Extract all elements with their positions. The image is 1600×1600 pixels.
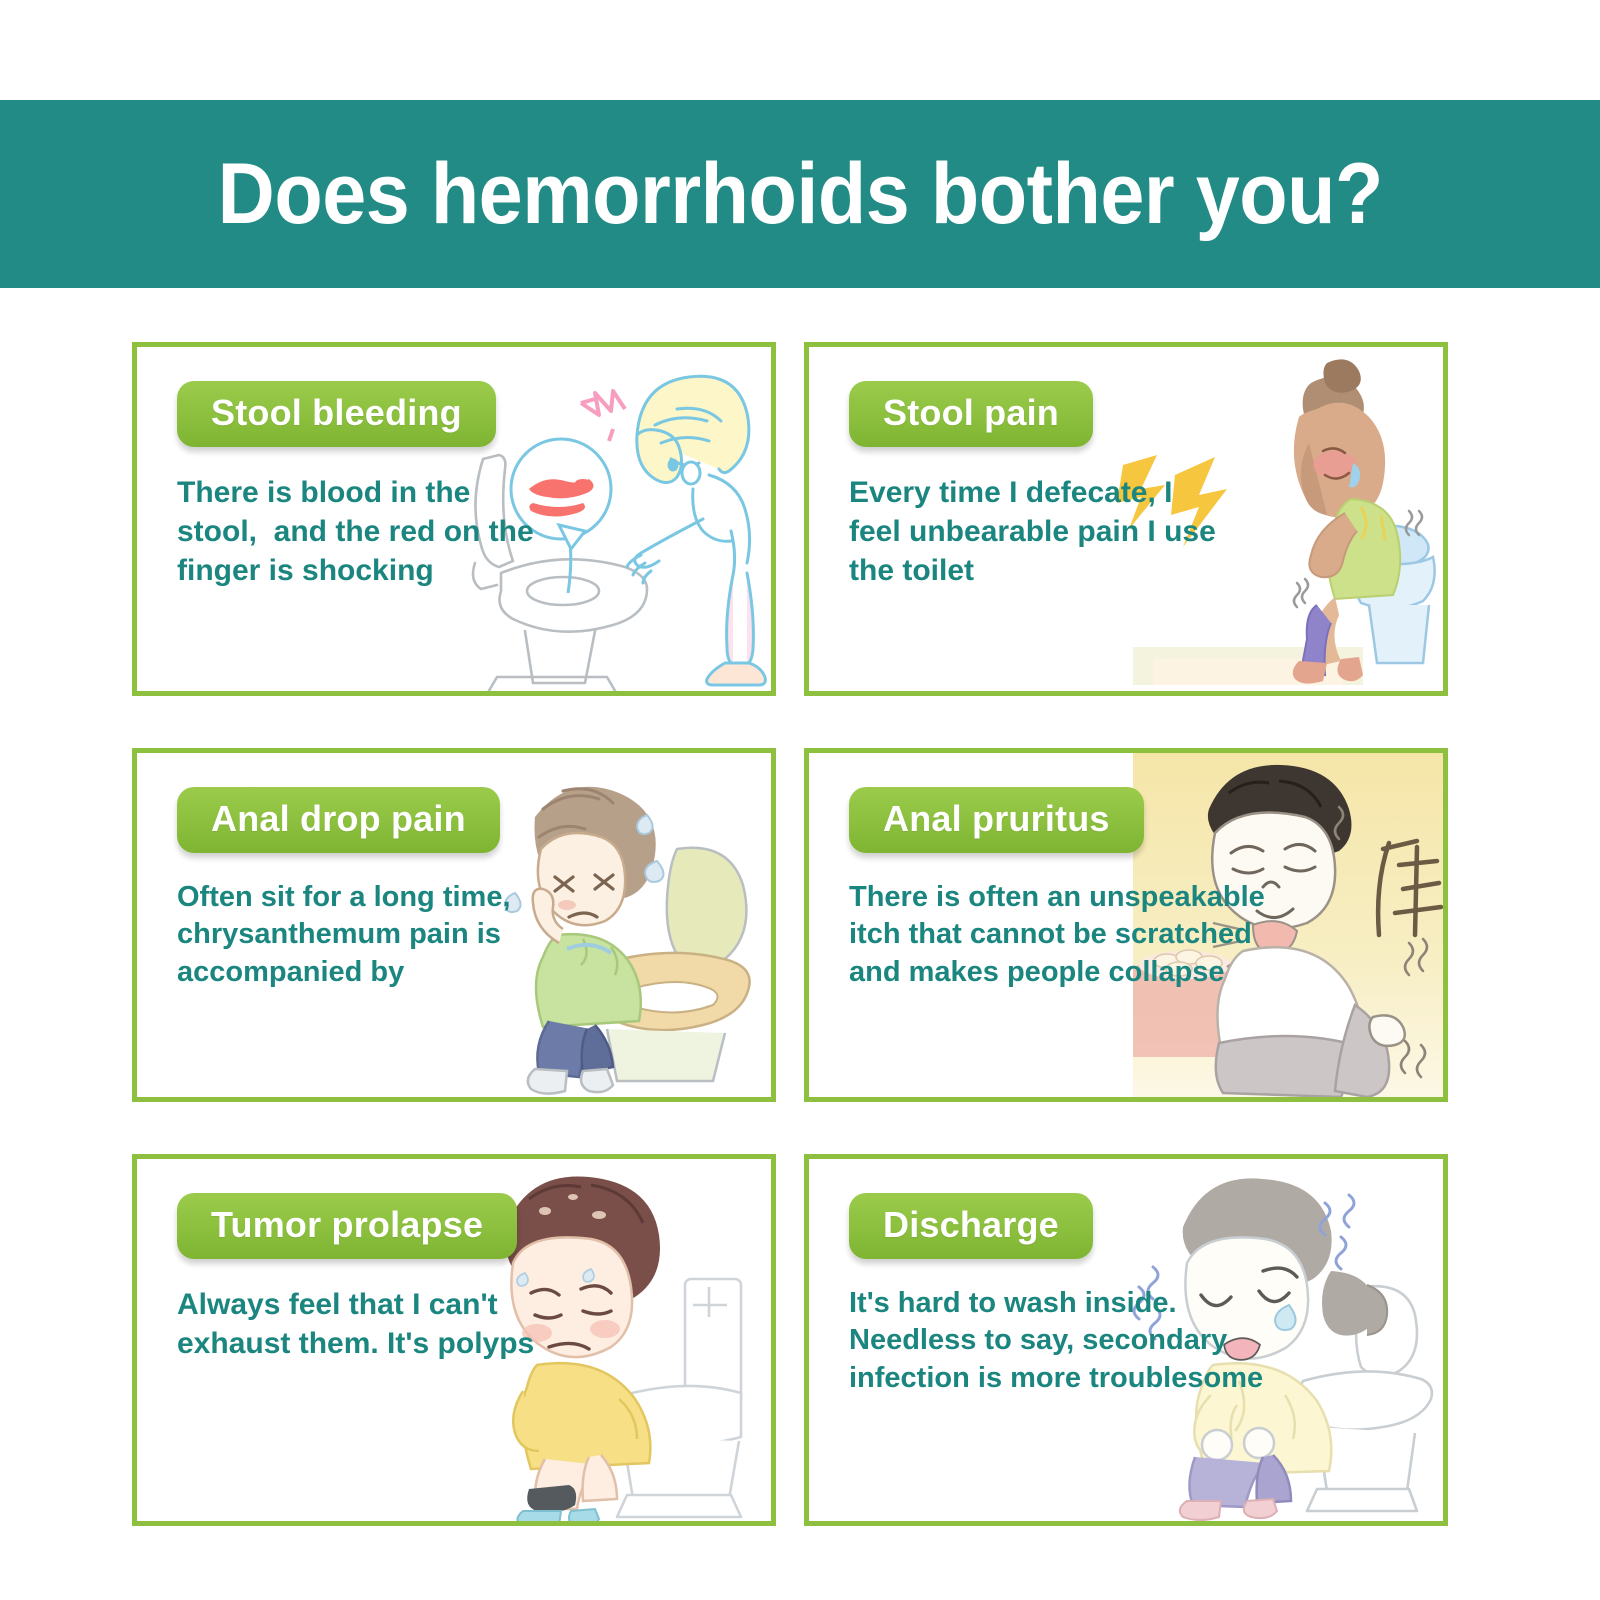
page-title: Does hemorrhoids bother you? [217,151,1382,237]
infographic-page: Does hemorrhoids bother you? [0,0,1600,1600]
symptom-card-anal-pruritus[interactable]: Anal pruritus There is often an unspeaka… [804,748,1448,1102]
card-text-block: Stool bleeding There is blood in the sto… [177,381,557,590]
badge-stool-pain[interactable]: Stool pain [849,381,1093,447]
badge-wrap: Stool bleeding [177,381,557,447]
symptom-card-anal-drop-pain[interactable]: Anal drop pain Often sit for a long time… [132,748,776,1102]
card-text-block: Anal pruritus There is often an unspeaka… [849,787,1289,992]
badge-discharge[interactable]: Discharge [849,1193,1093,1259]
body-text-tumor-prolapse: Always feel that I can't exhaust them. I… [177,1285,557,1363]
header-banner: Does hemorrhoids bother you? [0,100,1600,288]
badge-wrap: Tumor prolapse [177,1193,557,1259]
badge-tumor-prolapse[interactable]: Tumor prolapse [177,1193,517,1259]
badge-wrap: Stool pain [849,381,1229,447]
body-text-stool-pain: Every time I defecate, I feel unbearable… [849,473,1229,590]
body-text-anal-pruritus: There is often an unspeakable itch that … [849,879,1289,992]
body-text-discharge: It's hard to wash inside. Needless to sa… [849,1285,1289,1398]
symptom-card-tumor-prolapse[interactable]: Tumor prolapse Always feel that I can't … [132,1154,776,1526]
card-text-block: Discharge It's hard to wash inside. Need… [849,1193,1289,1398]
card-text-block: Anal drop pain Often sit for a long time… [177,787,617,992]
badge-anal-pruritus[interactable]: Anal pruritus [849,787,1144,853]
card-text-block: Tumor prolapse Always feel that I can't … [177,1193,557,1363]
symptom-card-stool-bleeding[interactable]: Stool bleeding There is blood in the sto… [132,342,776,696]
symptom-card-discharge[interactable]: Discharge It's hard to wash inside. Need… [804,1154,1448,1526]
symptom-card-grid: Stool bleeding There is blood in the sto… [132,342,1448,1526]
body-text-anal-drop-pain: Often sit for a long time, chrysanthemum… [177,879,617,992]
badge-stool-bleeding[interactable]: Stool bleeding [177,381,496,447]
badge-wrap: Anal drop pain [177,787,617,853]
badge-wrap: Discharge [849,1193,1289,1259]
symptom-card-stool-pain[interactable]: Stool pain Every time I defecate, I feel… [804,342,1448,696]
badge-wrap: Anal pruritus [849,787,1289,853]
body-text-stool-bleeding: There is blood in the stool, and the red… [177,473,557,590]
card-text-block: Stool pain Every time I defecate, I feel… [849,381,1229,590]
badge-anal-drop-pain[interactable]: Anal drop pain [177,787,500,853]
